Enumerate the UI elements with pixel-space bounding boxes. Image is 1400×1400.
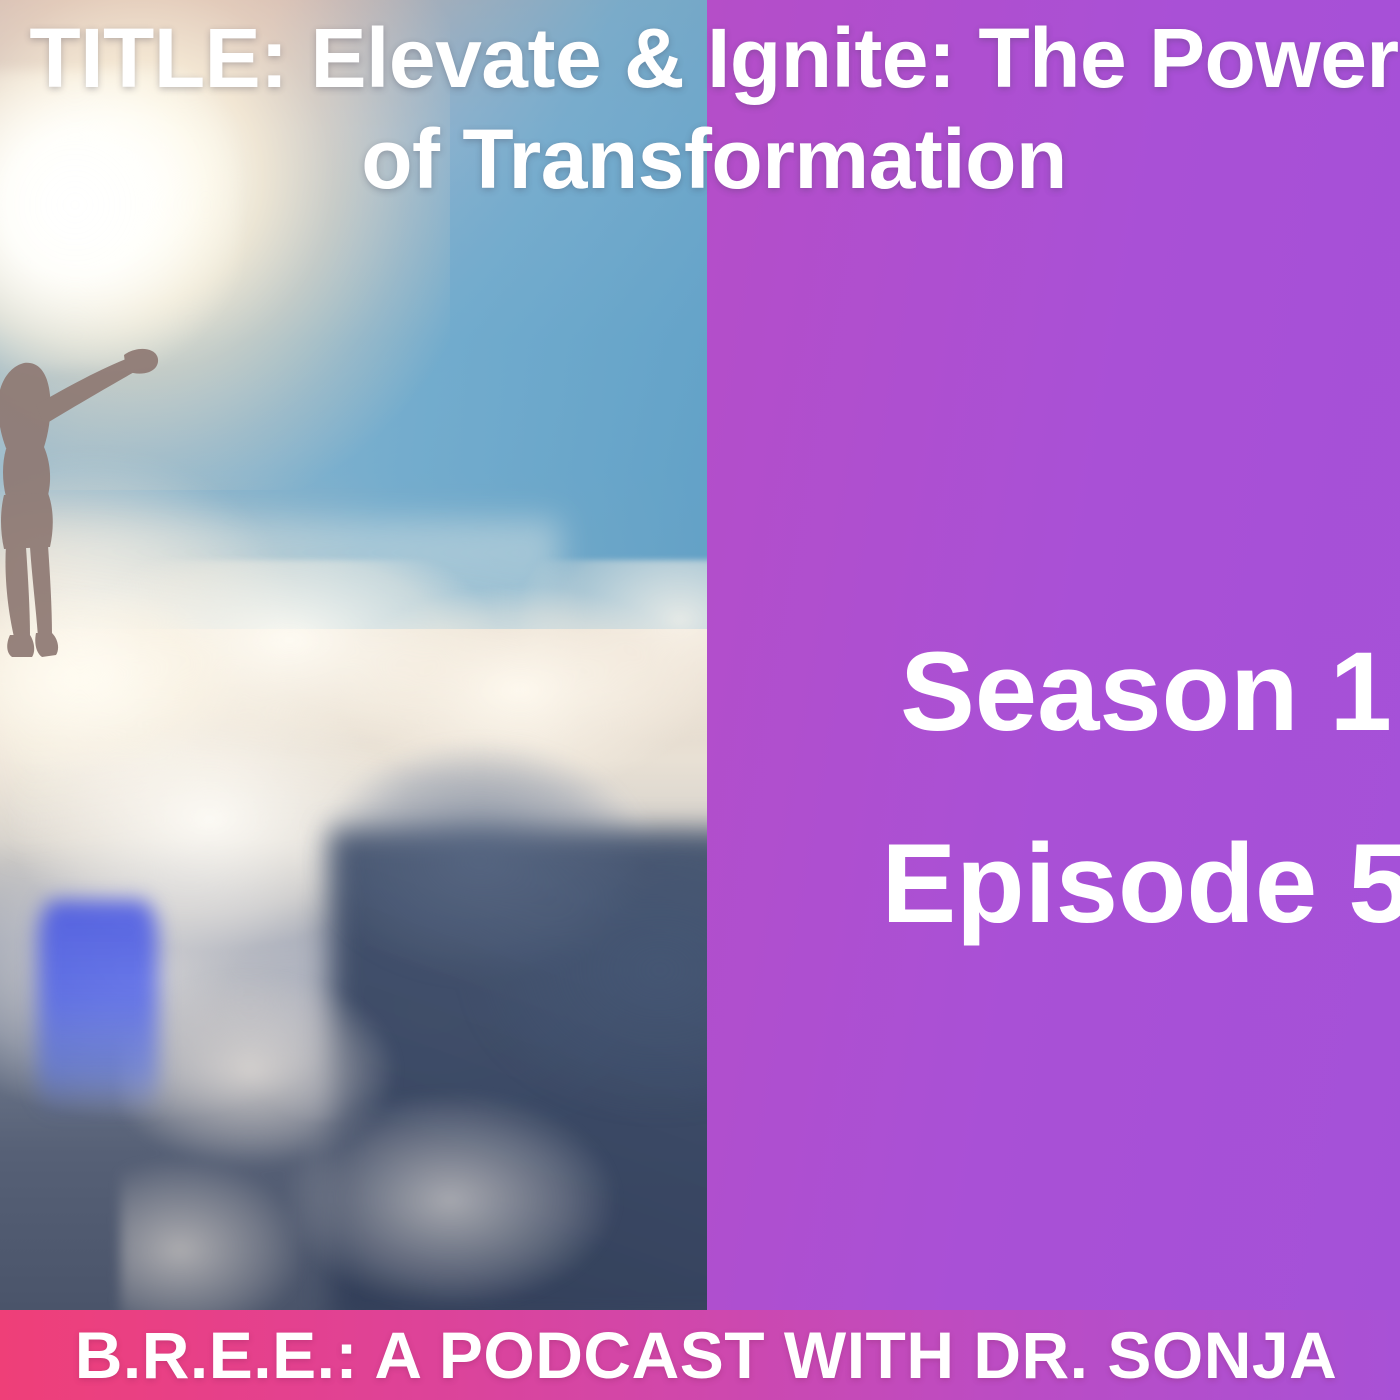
episode-title-line-2: of Transformation bbox=[0, 109, 1400, 210]
podcast-cover-art: TITLE: Elevate & Ignite: The Power of Tr… bbox=[0, 0, 1400, 1400]
season-episode-block: Season 1 Episode 5 bbox=[716, 596, 1400, 980]
episode-title-line-1: TITLE: Elevate & Ignite: The Power bbox=[0, 8, 1400, 109]
lens-flare-icon bbox=[38, 900, 158, 1115]
show-name-text: B.R.E.E.: A PODCAST WITH DR. SONJA bbox=[0, 1317, 1400, 1393]
show-name-banner: B.R.E.E.: A PODCAST WITH DR. SONJA bbox=[0, 1310, 1400, 1400]
lower-cloud-tufts-icon bbox=[120, 950, 640, 1311]
season-label: Season 1 bbox=[716, 596, 1400, 788]
woman-arms-raised-silhouette-icon bbox=[0, 345, 200, 675]
episode-title: TITLE: Elevate & Ignite: The Power of Tr… bbox=[0, 8, 1400, 210]
episode-label: Episode 5 bbox=[716, 788, 1400, 980]
